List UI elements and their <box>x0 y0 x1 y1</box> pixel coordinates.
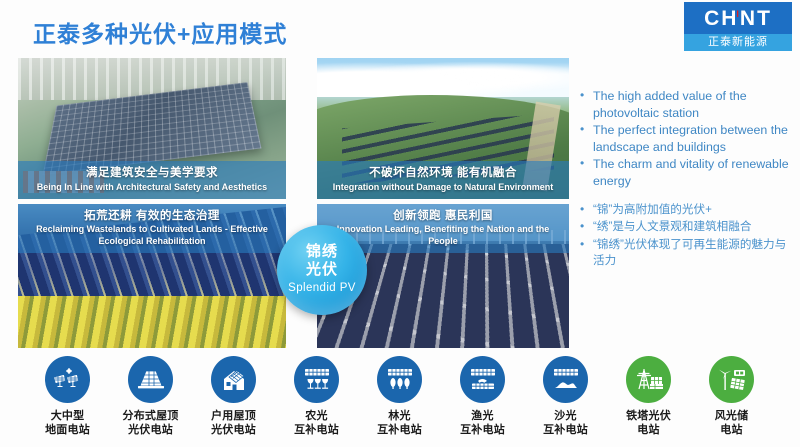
photo-caption-en: Integration without Damage to Natural En… <box>321 182 565 193</box>
icon-label-line1: 农光 <box>294 409 339 423</box>
distributed-rooftop-icon <box>128 356 173 403</box>
icon-item-distributed-rooftop[interactable]: 分布式屋顶 光伏电站 <box>109 356 192 446</box>
photo-caption-cn: 满足建筑安全与美学要求 <box>22 166 282 180</box>
bullet-marker: • <box>580 122 593 155</box>
icon-label-line1: 风光储 <box>715 409 749 423</box>
icon-label: 分布式屋顶 光伏电站 <box>123 409 179 437</box>
icon-label-line2: 光伏电站 <box>123 423 179 437</box>
icon-label: 风光储 电站 <box>715 409 749 437</box>
icon-item-agriculture-pv[interactable]: 农光 互补电站 <box>275 356 358 446</box>
photo-card-agricultural-pv: 拓荒还耕 有效的生态治理 Reclaiming Wastelands to Cu… <box>18 204 286 348</box>
residential-rooftop-icon <box>211 356 256 403</box>
logo-brand-text: CHINT <box>684 2 792 34</box>
photo-caption-en: Being In Line with Architectural Safety … <box>22 182 282 193</box>
desert-pv-icon <box>543 356 588 403</box>
icon-label-line1: 户用屋顶 <box>211 409 256 423</box>
photo-caption-2: 不破坏自然环境 能有机融合 Integration without Damage… <box>317 161 569 199</box>
bullet-item: • The charm and vitality of renewable en… <box>580 156 796 189</box>
agriculture-pv-icon <box>294 356 339 403</box>
icon-label-line2: 互补电站 <box>460 423 505 437</box>
photo-detail-rapeseed-field <box>18 296 286 348</box>
photo-caption-cn: 创新领跑 惠民利国 <box>321 209 565 223</box>
forestry-pv-icon <box>377 356 422 403</box>
splendid-pv-badge: 锦绣 光伏 Splendid PV <box>277 225 367 315</box>
photo-caption-en: Reclaiming Wastelands to Cultivated Land… <box>22 224 282 247</box>
bullet-marker: • <box>580 219 593 235</box>
icon-item-fishery-pv[interactable]: 渔光 互补电站 <box>441 356 524 446</box>
badge-line-1: 锦绣 <box>306 243 338 261</box>
icon-label-line2: 互补电站 <box>377 423 422 437</box>
bullet-text: The charm and vitality of renewable ener… <box>593 156 796 189</box>
photo-caption-1: 满足建筑安全与美学要求 Being In Line with Architect… <box>18 161 286 199</box>
icon-label: 户用屋顶 光伏电站 <box>211 409 256 437</box>
icon-label: 林光 互补电站 <box>377 409 422 437</box>
photo-grid: 满足建筑安全与美学要求 Being In Line with Architect… <box>18 58 569 348</box>
icon-item-tower-pv[interactable]: 铁塔光伏 电站 <box>607 356 690 446</box>
photo-card-hillside-pv: 不破坏自然环境 能有机融合 Integration without Damage… <box>317 58 569 199</box>
bullet-item: • “锦”为高附加值的光伏+ <box>580 202 796 218</box>
wind-solar-storage-icon <box>709 356 754 403</box>
icon-label-line1: 铁塔光伏 <box>626 409 671 423</box>
icon-item-forestry-pv[interactable]: 林光 互补电站 <box>358 356 441 446</box>
icon-label: 铁塔光伏 电站 <box>626 409 671 437</box>
bullet-marker: • <box>580 202 593 218</box>
icon-label-line1: 林光 <box>377 409 422 423</box>
slide-root: 正泰多种光伏+应用模式 CHINT 正泰新能源 满足建筑安全与美学要求 Bein… <box>0 0 800 447</box>
logo-brand-nt: NT <box>740 7 772 30</box>
icon-label-line2: 互补电站 <box>294 423 339 437</box>
badge-line-3: Splendid PV <box>288 280 356 297</box>
photo-card-rooftop-factory: 满足建筑安全与美学要求 Being In Line with Architect… <box>18 58 286 199</box>
icon-label-line2: 电站 <box>715 423 749 437</box>
icon-label-line2: 电站 <box>626 423 671 437</box>
bullet-item: • “锦绣”光伏体现了可再生能源的魅力与活力 <box>580 237 796 270</box>
photo-caption-3: 拓荒还耕 有效的生态治理 Reclaiming Wastelands to Cu… <box>18 204 286 253</box>
ground-power-station-icon <box>45 356 90 403</box>
icon-label-line2: 光伏电站 <box>211 423 256 437</box>
bullet-text: “锦绣”光伏体现了可再生能源的魅力与活力 <box>593 237 796 270</box>
page-title: 正泰多种光伏+应用模式 <box>33 15 287 49</box>
icon-label: 大中型 地面电站 <box>45 409 90 437</box>
bullet-list-chinese: • “锦”为高附加值的光伏+ • “绣”是与人文景观和建筑相融合 • “锦绣”光… <box>580 202 796 271</box>
photo-caption-cn: 拓荒还耕 有效的生态治理 <box>22 209 282 223</box>
bullet-text: “锦”为高附加值的光伏+ <box>593 202 712 218</box>
fishery-pv-icon <box>460 356 505 403</box>
bullet-list-english: • The high added value of the photovolta… <box>580 88 796 190</box>
logo-subtitle: 正泰新能源 <box>684 34 792 51</box>
bullet-marker: • <box>580 156 593 189</box>
icon-label-line1: 大中型 <box>45 409 90 423</box>
bullet-text: The high added value of the photovoltaic… <box>593 88 796 121</box>
photo-detail-sky <box>317 58 569 97</box>
icon-label: 沙光 互补电站 <box>543 409 588 437</box>
application-icon-row: 大中型 地面电站 分布式屋顶 光伏电站 <box>0 356 800 446</box>
chint-logo: CHINT 正泰新能源 <box>684 2 792 51</box>
icon-label-line1: 渔光 <box>460 409 505 423</box>
icon-label-line2: 地面电站 <box>45 423 90 437</box>
bullet-item: • “绣”是与人文景观和建筑相融合 <box>580 219 796 235</box>
bullet-item: • The high added value of the photovolta… <box>580 88 796 121</box>
bullet-item: • The perfect integration between the la… <box>580 122 796 155</box>
bullet-text: The perfect integration between the land… <box>593 122 796 155</box>
badge-line-2: 光伏 <box>306 261 338 279</box>
icon-label-line1: 分布式屋顶 <box>123 409 179 423</box>
bullet-text: “绣”是与人文景观和建筑相融合 <box>593 219 751 235</box>
icon-item-wind-solar-storage[interactable]: 风光储 电站 <box>690 356 773 446</box>
icon-label: 农光 互补电站 <box>294 409 339 437</box>
icon-item-residential-rooftop[interactable]: 户用屋顶 光伏电站 <box>192 356 275 446</box>
icon-label-line2: 互补电站 <box>543 423 588 437</box>
bullet-marker: • <box>580 237 593 270</box>
logo-brand-ch: CH <box>704 7 738 30</box>
bullet-marker: • <box>580 88 593 121</box>
icon-label-line1: 沙光 <box>543 409 588 423</box>
icon-item-desert-pv[interactable]: 沙光 互补电站 <box>524 356 607 446</box>
tower-pv-icon <box>626 356 671 403</box>
photo-caption-cn: 不破坏自然环境 能有机融合 <box>321 166 565 180</box>
icon-item-ground-power-station[interactable]: 大中型 地面电站 <box>26 356 109 446</box>
icon-label: 渔光 互补电站 <box>460 409 505 437</box>
